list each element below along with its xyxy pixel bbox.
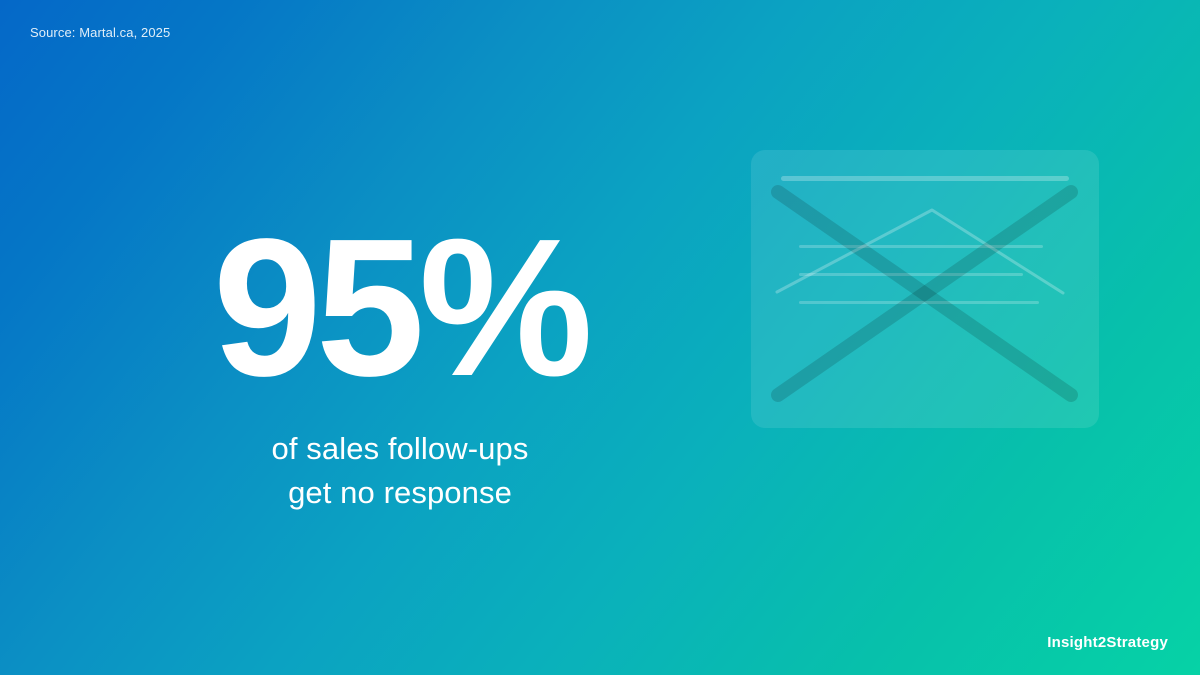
- stat-caption-line-1: of sales follow-ups: [60, 427, 740, 471]
- stat-caption: of sales follow-ups get no response: [60, 427, 740, 515]
- panel-header-bar: [781, 176, 1069, 181]
- stat-slide: Source: Martal.ca, 2025 95% of sales fol…: [0, 0, 1200, 675]
- stat-caption-line-2: get no response: [60, 471, 740, 515]
- email-mockup-icon: [751, 150, 1099, 428]
- unanswered-email-illustration: [751, 150, 1099, 428]
- stat-value: 95%: [60, 215, 740, 401]
- panel-text-line: [799, 245, 1043, 248]
- brand-logo: Insight2Strategy: [1047, 634, 1168, 651]
- stat-block: 95% of sales follow-ups get no response: [60, 215, 740, 515]
- source-attribution: Source: Martal.ca, 2025: [30, 24, 170, 41]
- panel-text-line: [799, 273, 1023, 276]
